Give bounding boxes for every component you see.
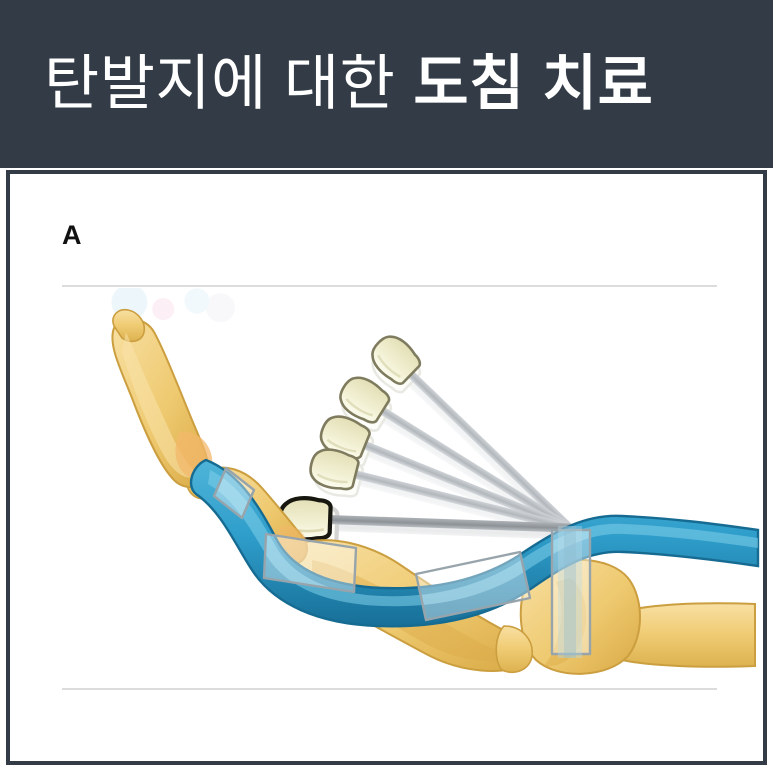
needle-sweep-group [279, 329, 583, 555]
page-title-bold: 도침 치료 [413, 54, 653, 114]
pulley-a2 [416, 552, 530, 620]
anatomy-illustration [10, 174, 763, 761]
slide-root: 탄발지에 대한 도침 치료 A [0, 0, 773, 773]
figure-panel: A [6, 170, 767, 765]
needle-insertion-site [558, 526, 582, 658]
page-title-regular: 탄발지에 대한 [44, 54, 395, 114]
metacarpal-shaft [622, 603, 755, 666]
page-title: 탄발지에 대한 도침 치료 [44, 36, 734, 132]
header-bar: 탄발지에 대한 도침 치료 [0, 0, 773, 168]
